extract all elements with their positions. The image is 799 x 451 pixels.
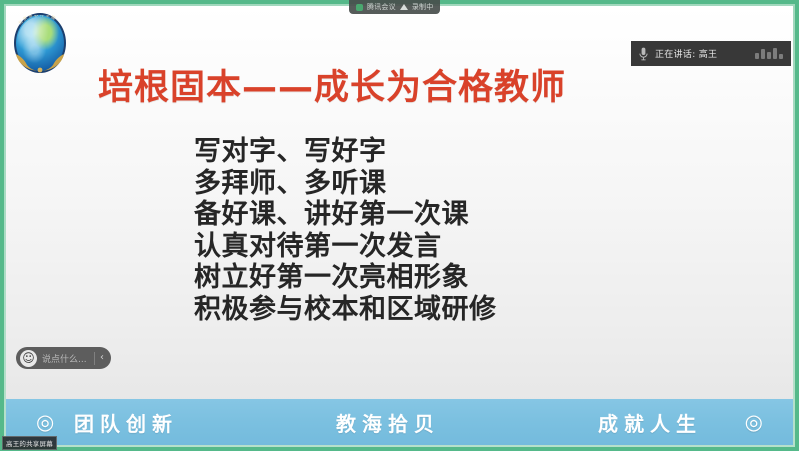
- target-circle-icon-right: ◎: [745, 412, 763, 433]
- meeting-toolbar-pill[interactable]: 腾讯会议 录制中: [349, 0, 440, 14]
- recording-icon: [400, 4, 408, 10]
- speaker-name-label: 正在讲话: 高王: [655, 47, 717, 60]
- screen-share-window: · 北 京 市 教 育 学 院 · 培根固本——成长为合格教师 写对字、写好字 …: [0, 0, 799, 451]
- slide-body-line: 树立好第一次亮相形象: [194, 262, 714, 294]
- target-circle-icon-left: ◎: [36, 412, 54, 433]
- meeting-status-icon: [356, 4, 363, 11]
- chat-input[interactable]: 说点什么...: [40, 352, 94, 365]
- ribbon-text-teaching-sea: 教海拾贝: [336, 408, 440, 437]
- school-emblem: · 北 京 市 教 育 学 院 ·: [10, 11, 70, 75]
- active-speaker-badge: 正在讲话: 高王: [631, 41, 791, 66]
- slide-footer-ribbon: ◎ 团队创新 教海拾贝 成就人生 ◎: [6, 399, 793, 445]
- smiley-icon[interactable]: ☺: [20, 350, 37, 367]
- meeting-info-label[interactable]: 腾讯会议: [367, 2, 396, 12]
- slide-title: 培根固本——成长为合格教师: [98, 59, 698, 110]
- share-owner-watermark: 高王的共享屏幕: [2, 436, 57, 450]
- slide-body: 写对字、写好字 多拜师、多听课 备好课、讲好第一次课 认真对待第一次发言 树立好…: [194, 136, 714, 325]
- audio-wave-icon: [755, 48, 783, 59]
- slide-body-line: 认真对待第一次发言: [194, 231, 714, 263]
- presentation-slide: · 北 京 市 教 育 学 院 · 培根固本——成长为合格教师 写对字、写好字 …: [6, 6, 793, 445]
- chevron-left-icon[interactable]: ‹: [95, 353, 109, 363]
- ribbon-text-team-innovation: 团队创新: [74, 408, 178, 437]
- ribbon-text-achieve-life: 成就人生: [598, 408, 702, 437]
- emblem-wreath-icon: [12, 43, 68, 73]
- svg-text:· 北 京 市 教 育 学 院 ·: · 北 京 市 教 育 学 院 ·: [15, 15, 59, 28]
- microphone-icon: [639, 47, 648, 61]
- recording-label[interactable]: 录制中: [412, 2, 434, 12]
- slide-body-line: 积极参与校本和区域研修: [194, 294, 714, 326]
- slide-body-line: 备好课、讲好第一次课: [194, 199, 714, 231]
- meeting-chat-bar[interactable]: ☺ 说点什么... ‹: [16, 347, 111, 369]
- slide-body-line: 多拜师、多听课: [194, 168, 714, 200]
- emblem-arc-text-icon: · 北 京 市 教 育 学 院 ·: [15, 15, 65, 33]
- slide-body-line: 写对字、写好字: [194, 136, 714, 168]
